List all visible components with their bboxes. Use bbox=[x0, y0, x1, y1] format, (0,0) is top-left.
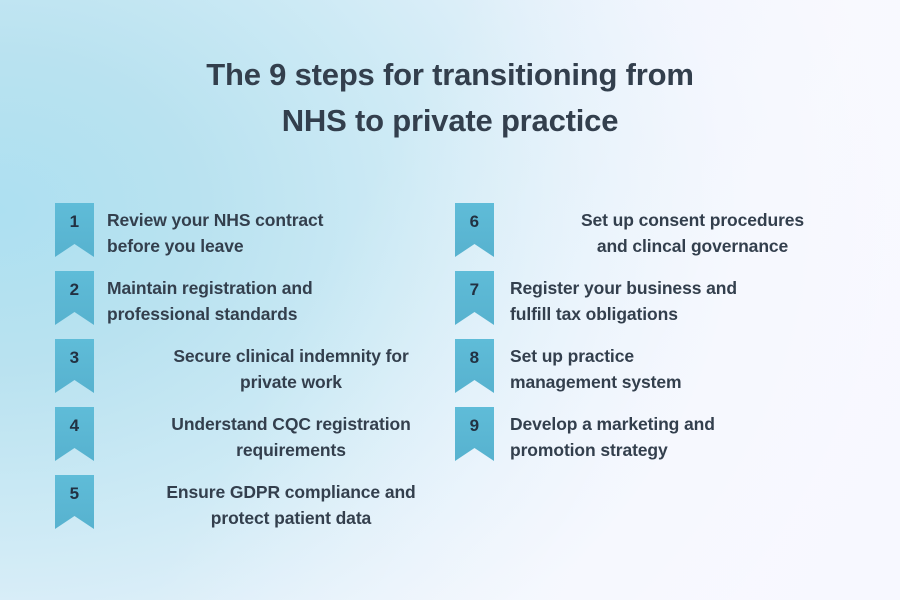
step-label-6: Set up consent procedures and clincal go… bbox=[494, 203, 875, 259]
step-label-7: Register your business and fulfill tax o… bbox=[494, 271, 875, 327]
step-number-1: 1 bbox=[70, 212, 80, 232]
step-label-9: Develop a marketing and promotion strate… bbox=[494, 407, 875, 463]
step-ribbon-badge-4: 4 bbox=[55, 407, 94, 461]
step-number-5: 5 bbox=[70, 484, 80, 504]
step-item-4: 4 Understand CQC registration requiremen… bbox=[55, 407, 475, 463]
step-item-2: 2 Maintain registration and professional… bbox=[55, 271, 475, 327]
step-number-9: 9 bbox=[470, 416, 480, 436]
step-ribbon-badge-8: 8 bbox=[455, 339, 494, 393]
step-ribbon-badge-9: 9 bbox=[455, 407, 494, 461]
step-item-5: 5 Ensure GDPR compliance and protect pat… bbox=[55, 475, 475, 531]
step-label-5: Ensure GDPR compliance and protect patie… bbox=[94, 475, 475, 531]
step-ribbon-badge-1: 1 bbox=[55, 203, 94, 257]
step-ribbon-badge-5: 5 bbox=[55, 475, 94, 529]
step-ribbon-badge-3: 3 bbox=[55, 339, 94, 393]
infographic-canvas: The 9 steps for transitioning from NHS t… bbox=[0, 0, 900, 600]
step-ribbon-badge-7: 7 bbox=[455, 271, 494, 325]
step-ribbon-badge-6: 6 bbox=[455, 203, 494, 257]
step-number-2: 2 bbox=[70, 280, 80, 300]
step-item-7: 7 Register your business and fulfill tax… bbox=[455, 271, 875, 327]
step-item-9: 9 Develop a marketing and promotion stra… bbox=[455, 407, 875, 463]
steps-column-left: 1 Review your NHS contract before you le… bbox=[55, 0, 475, 600]
step-label-3: Secure clinical indemnity for private wo… bbox=[94, 339, 475, 395]
step-number-3: 3 bbox=[70, 348, 80, 368]
step-label-1: Review your NHS contract before you leav… bbox=[94, 203, 475, 259]
step-item-6: 6 Set up consent procedures and clincal … bbox=[455, 203, 875, 259]
steps-column-right: 6 Set up consent procedures and clincal … bbox=[455, 0, 875, 600]
step-ribbon-badge-2: 2 bbox=[55, 271, 94, 325]
step-number-6: 6 bbox=[470, 212, 480, 232]
step-label-8: Set up practice management system bbox=[494, 339, 875, 395]
step-number-8: 8 bbox=[470, 348, 480, 368]
step-number-7: 7 bbox=[470, 280, 480, 300]
step-label-2: Maintain registration and professional s… bbox=[94, 271, 475, 327]
step-item-3: 3 Secure clinical indemnity for private … bbox=[55, 339, 475, 395]
step-label-4: Understand CQC registration requirements bbox=[94, 407, 475, 463]
step-number-4: 4 bbox=[70, 416, 80, 436]
step-item-8: 8 Set up practice management system bbox=[455, 339, 875, 395]
step-item-1: 1 Review your NHS contract before you le… bbox=[55, 203, 475, 259]
